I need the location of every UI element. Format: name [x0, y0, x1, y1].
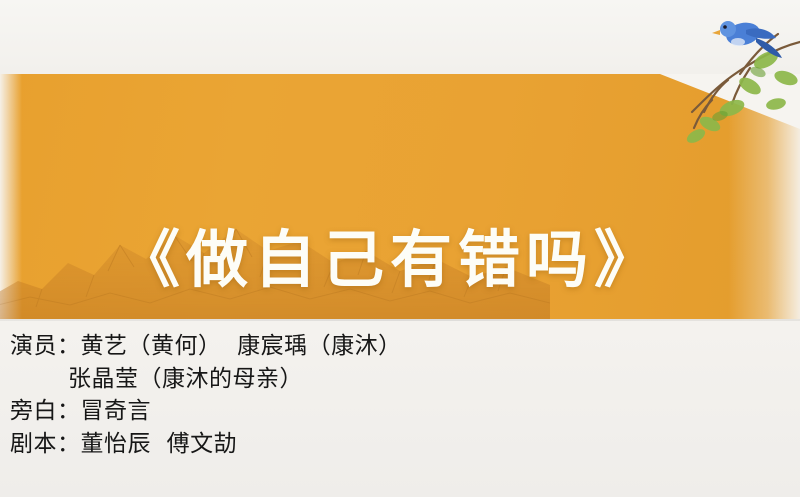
credits-line-actors: 演员：黄艺（黄何） 康宸瑀（康沐）	[10, 330, 790, 363]
credits-block: 演员：黄艺（黄何） 康宸瑀（康沐） 张晶莹（康沐的母亲） 旁白：冒奇言 剧本：董…	[10, 330, 790, 461]
slide-container: 《做自己有错吗》	[0, 0, 800, 497]
slide-title: 《做自己有错吗》	[0, 229, 780, 291]
credits-line-script: 剧本：董怡辰 傅文劼	[10, 428, 790, 461]
banner-bottom-edge	[0, 319, 800, 321]
credits-line-actors-cont: 张晶莹（康沐的母亲）	[10, 363, 790, 396]
credits-line-narrator: 旁白：冒奇言	[10, 395, 790, 428]
branch-with-bird-icon	[600, 8, 800, 158]
